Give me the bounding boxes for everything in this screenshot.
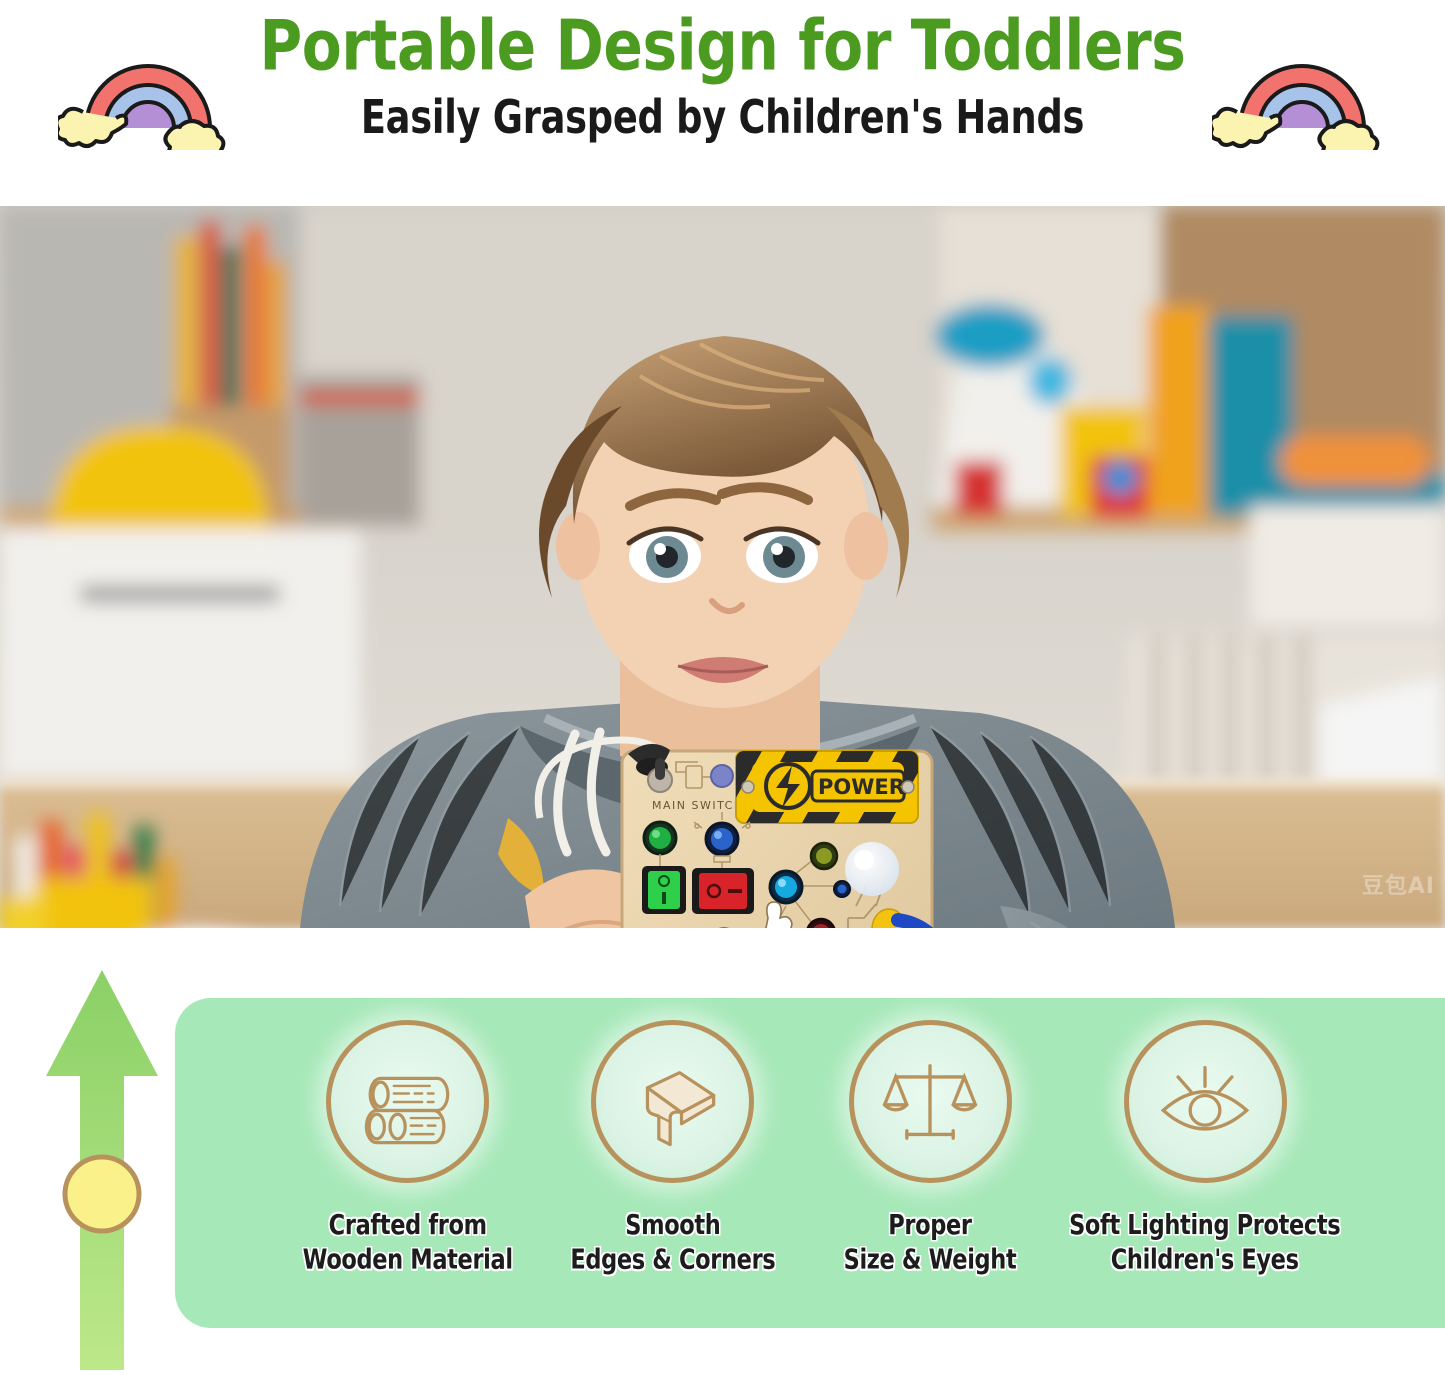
feature-label: Crafted from Wooden Material xyxy=(302,1207,512,1276)
wood-logs-icon xyxy=(326,1020,489,1183)
feature-label-line1: Crafted from xyxy=(302,1207,512,1242)
main-switch-label: MAIN SWITCH xyxy=(652,799,744,812)
feature-label-line2: Children's Eyes xyxy=(1069,1242,1340,1277)
feature-label: Proper Size & Weight xyxy=(844,1207,1017,1276)
feature-label: Soft Lighting Protects Children's Eyes xyxy=(1069,1207,1340,1276)
feature-item-size-weight[interactable]: Proper Size & Weight xyxy=(805,998,1055,1269)
upward-arrow xyxy=(40,966,165,1370)
features-section: Crafted from Wooden Material xyxy=(0,928,1445,1370)
balance-scale-icon xyxy=(849,1020,1012,1183)
feature-label-line2: Edges & Corners xyxy=(570,1242,775,1277)
feature-label-line2: Size & Weight xyxy=(844,1242,1017,1277)
feature-label-line1: Smooth xyxy=(570,1207,775,1242)
features-panel: Crafted from Wooden Material xyxy=(175,998,1445,1328)
product-lifestyle-photo: MAIN SWITCH xyxy=(0,206,1445,928)
feature-label-line2: Wooden Material xyxy=(302,1242,512,1277)
feature-label-line1: Proper xyxy=(844,1207,1017,1242)
rounded-edge-icon xyxy=(591,1020,754,1183)
eye-icon xyxy=(1124,1020,1287,1183)
header-banner: Portable Design for Toddlers Easily Gras… xyxy=(0,0,1445,206)
feature-item-smooth-edges[interactable]: Smooth Edges & Corners xyxy=(540,998,805,1269)
feature-item-wooden-material[interactable]: Crafted from Wooden Material xyxy=(275,998,540,1269)
page-subtitle: Easily Grasped by Children's Hands xyxy=(58,88,1387,148)
features-row: Crafted from Wooden Material xyxy=(175,998,1415,1328)
page-title: Portable Design for Toddlers xyxy=(43,8,1401,84)
feature-label: Smooth Edges & Corners xyxy=(570,1207,775,1276)
feature-item-soft-lighting[interactable]: Soft Lighting Protects Children's Eyes xyxy=(1055,998,1355,1269)
power-plate-text: POWER xyxy=(818,775,905,799)
feature-label-line1: Soft Lighting Protects xyxy=(1069,1207,1340,1242)
